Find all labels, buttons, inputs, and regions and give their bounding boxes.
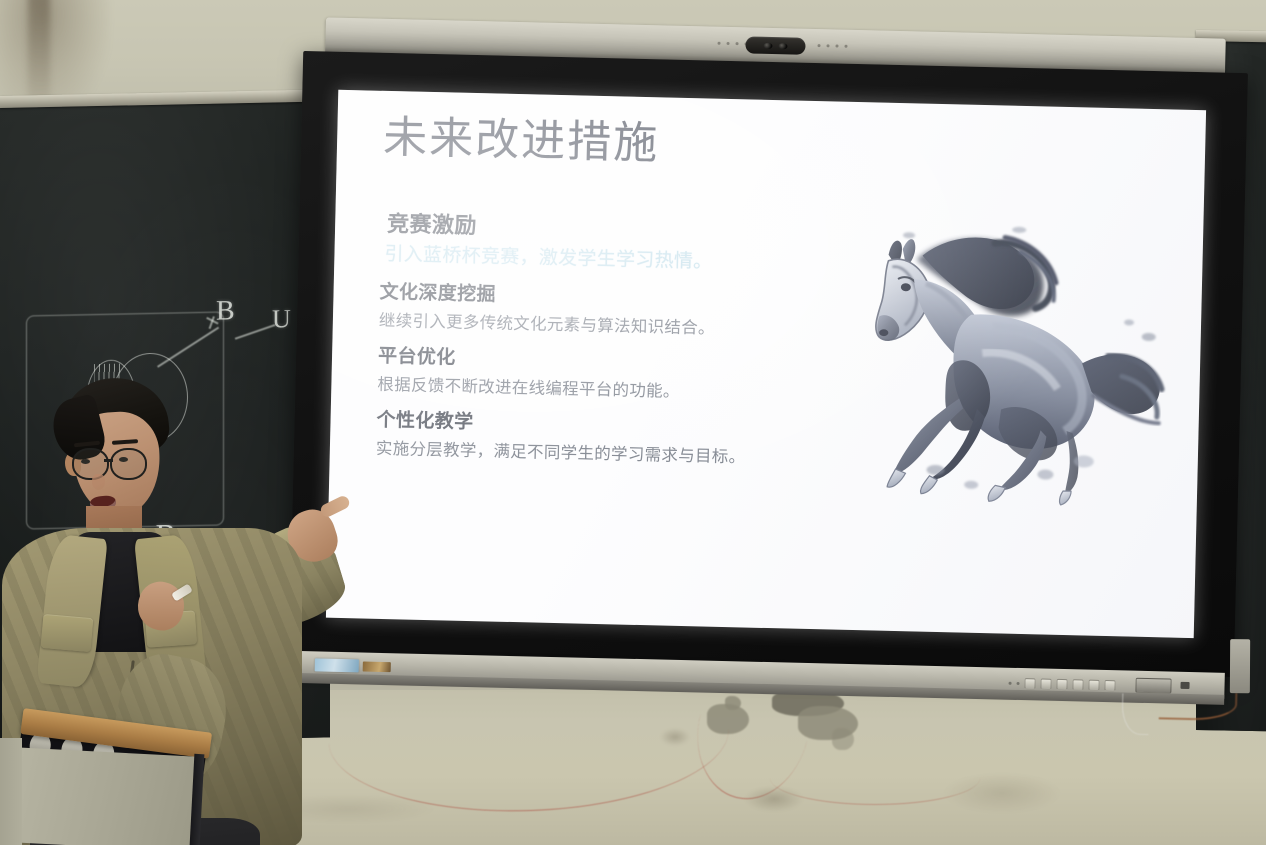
slide-bullet-list: 竞赛激励 引入蓝桥杯竞赛，激发学生学习热情。 文化深度挖掘 继续引入更多传统文化… <box>375 207 811 481</box>
led-indicator-icon <box>1017 682 1020 685</box>
wall-scuff <box>942 772 1062 814</box>
chalk-label-u: U <box>272 304 291 334</box>
galloping-horse-ink-painting-icon <box>839 220 1176 518</box>
aux-port[interactable] <box>1180 682 1189 689</box>
presentation-slide: 未来改进措施 竞赛激励 引入蓝桥杯竞赛，激发学生学习热情。 文化深度挖掘 继续引… <box>326 90 1206 638</box>
source-button[interactable] <box>1056 679 1067 690</box>
wall-scuff <box>744 786 804 812</box>
chalk-arrow-u <box>235 324 275 339</box>
paint-peel-patch <box>832 728 854 750</box>
slide-bullet-3: 平台优化 根据反馈不断改进在线编程平台的功能。 <box>377 343 808 408</box>
camera-lens-icon <box>763 42 772 49</box>
jacket-pocket-left <box>41 614 94 652</box>
classroom-scene: B U A-B 未来改进措施 <box>0 0 1266 845</box>
glasses-lens-right <box>110 448 147 480</box>
glasses-bridge <box>104 459 113 462</box>
sensor-lens-icon <box>778 43 787 50</box>
power-button[interactable] <box>1024 678 1035 689</box>
lectern-front-panel <box>10 747 201 845</box>
wall-mount-bracket <box>1230 639 1250 693</box>
mic-dots-left <box>718 42 748 46</box>
display-label-sticker <box>363 662 391 673</box>
volume-up-button[interactable] <box>1088 680 1099 691</box>
mic-dots-right <box>817 44 847 48</box>
volume-down-button[interactable] <box>1072 679 1083 690</box>
presenter-nose <box>92 474 105 490</box>
camera-sensor-bar <box>745 36 805 54</box>
slide-bullet-1: 竞赛激励 引入蓝桥杯竞赛，激发学生学习热情。 <box>380 207 811 281</box>
home-button[interactable] <box>1104 680 1115 691</box>
display-bezel: 未来改进措施 竞赛激励 引入蓝桥杯竞赛，激发学生学习热情。 文化深度挖掘 继续引… <box>289 51 1248 677</box>
slide-title: 未来改进措施 <box>383 115 660 168</box>
menu-button[interactable] <box>1040 678 1051 689</box>
display-screen[interactable]: 未来改进措施 竞赛激励 引入蓝桥杯竞赛，激发学生学习热情。 文化深度挖掘 继续引… <box>326 90 1206 638</box>
interactive-display[interactable]: 未来改进措施 竞赛激励 引入蓝桥杯竞赛，激发学生学习热情。 文化深度挖掘 继续引… <box>288 17 1249 711</box>
slide-bullet-2: 文化深度挖掘 继续引入更多传统文化元素与算法知识结合。 <box>379 279 810 344</box>
slide-bullet-4: 个性化教学 实施分层教学，满足不同学生的学习需求与目标。 <box>376 407 807 472</box>
wall-scuff <box>660 728 690 746</box>
led-indicator-icon <box>1009 682 1012 685</box>
lectern <box>0 700 224 845</box>
lectern-side-panel <box>0 738 22 845</box>
